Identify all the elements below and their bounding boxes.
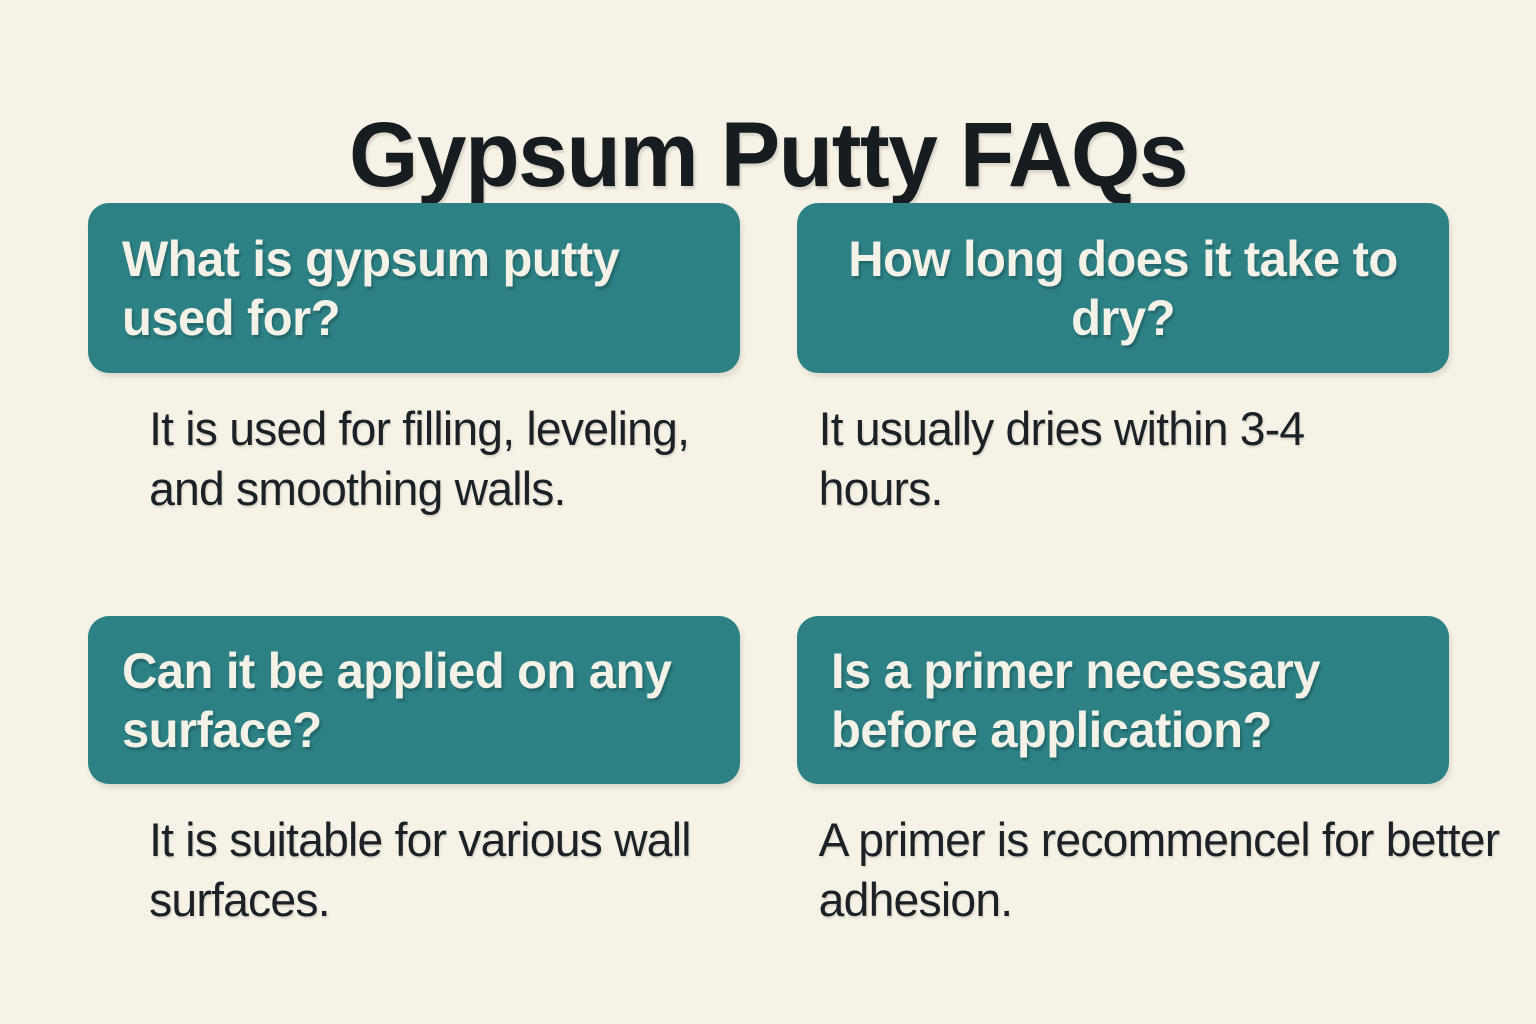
faq-item: Can it be applied on any surface? It is … — [88, 616, 740, 930]
faq-question-text: What is gypsum putty used for? — [122, 230, 694, 348]
faq-answer-text: It is suitable for various wall surfaces… — [88, 810, 730, 930]
faq-question-text: Is a primer necessary before application… — [831, 642, 1403, 760]
faq-answer-text: A primer is recommencel for better adhes… — [797, 810, 1508, 930]
faq-question-card[interactable]: How long does it take to dry? — [797, 203, 1449, 373]
faq-item: How long does it take to dry? It usually… — [797, 203, 1449, 519]
faq-question-card[interactable]: Can it be applied on any surface? — [88, 616, 740, 784]
faq-question-card[interactable]: Is a primer necessary before application… — [797, 616, 1449, 784]
faq-grid: What is gypsum putty used for? It is use… — [88, 203, 1448, 1003]
page-title: Gypsum Putty FAQs — [23, 106, 1513, 205]
faq-item: Is a primer necessary before application… — [797, 616, 1449, 930]
faq-item: What is gypsum putty used for? It is use… — [88, 203, 740, 519]
faq-question-text: Can it be applied on any surface? — [122, 642, 694, 760]
faq-answer-text: It is used for filling, leveling, and sm… — [88, 399, 730, 519]
faq-infographic: Gypsum Putty FAQs What is gypsum putty u… — [0, 0, 1536, 1024]
faq-answer-text: It usually dries within 3-4 hours. — [797, 399, 1439, 519]
faq-question-card[interactable]: What is gypsum putty used for? — [88, 203, 740, 373]
faq-question-text: How long does it take to dry? — [837, 230, 1409, 348]
